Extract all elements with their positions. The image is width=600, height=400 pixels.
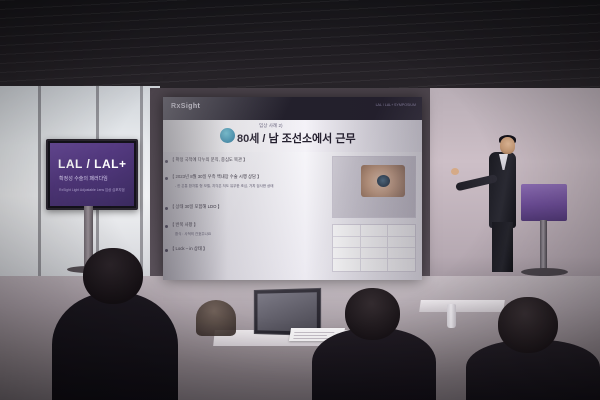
presentation-screen[interactable]: RxSight LAL / LAL+ SYMPOSIUM 임상 사례 2) 80… [163,97,422,280]
photo-scene: RxSight LAL / LAL+ SYMPOSIUM 임상 사례 2) 80… [0,0,600,400]
slide-bullet-sub: - 한 은통 환자통 형 모델, 지각은 저도 유무한 조심, 가치 검사한 상… [175,184,274,189]
side-monitor-title: LAL / LAL+ [58,157,126,171]
side-monitor[interactable]: LAL / LAL+ 확정성 수술의 패러다임 RxSight Light Ad… [46,139,138,210]
slide-bullet-sub: 환식 : 사적의 간호주나요 [175,232,211,237]
bullet-dot-icon [165,225,168,228]
side-monitor-subtitle: 확정성 수술의 패러다임 [59,175,108,182]
audience-member-head [345,288,400,340]
bullet-dot-icon [165,207,168,210]
presenter-legs [492,222,513,272]
window-mullion [38,86,41,286]
side-monitor-screen: LAL / LAL+ 확정성 수술의 패러다임 RxSight Light Ad… [50,143,134,206]
audience-member-head [83,248,143,304]
bullet-dot-icon [165,249,168,252]
audience-member-head [196,300,236,336]
slide-logo: RxSight [171,103,200,110]
slatted-ceiling [0,0,600,96]
slide-bullet: 【 2023년 8월 30일 우측 백내장 수술 시행 상담 】 [170,174,261,180]
water-bottle [447,304,456,328]
eye-photo [361,165,405,197]
slide-title: 80세 / 남 조선소에서 근무 [237,130,356,146]
lectern-stem [540,220,547,272]
audience-member-body [52,292,178,400]
presenter-head [500,137,515,154]
slide-body: 【 확정 국적에 다누의 문직, 중심도 복관 】 【 2023년 8월 30일… [163,152,422,280]
slide-image-panel [332,156,416,218]
slide-bullet: 【 확정 국적에 다누의 문직, 중심도 복관 】 [170,157,247,163]
lectern: LAL / LAL+ KOREA SYMPOSIUM [521,184,567,221]
slide-case-tag: 임상 사례 2) [259,123,283,129]
slide-header-bar [163,97,422,120]
slide-data-table [332,224,416,272]
patient-avatar-icon [220,128,235,143]
bullet-dot-icon [165,177,168,180]
bullet-dot-icon [165,160,168,163]
side-desk [419,300,505,312]
laptop-screen-surface [257,292,316,332]
presenter-hand [451,168,459,175]
eye-iris [377,175,390,187]
side-monitor-footnote: RxSight Light Adjustable Lens 임상 심포지엄 [59,188,125,193]
lectern-base [521,268,568,276]
slide-bullet-column: 【 확정 국적에 다누의 문직, 중심도 복관 】 【 2023년 8월 30일… [163,152,318,280]
slide-header-note: LAL / LAL+ SYMPOSIUM [376,103,416,108]
slide-bullet: 【 상태 30일 포함해 LDO 】 [170,204,222,210]
slide-bullet: 【 Lock – in 상태 】 [170,246,207,252]
slide-bullet: 【 반복 사항 】 [170,222,198,228]
slide: RxSight LAL / LAL+ SYMPOSIUM 임상 사례 2) 80… [163,97,422,280]
window-mullion [140,86,143,286]
audience-member-head [498,297,558,353]
